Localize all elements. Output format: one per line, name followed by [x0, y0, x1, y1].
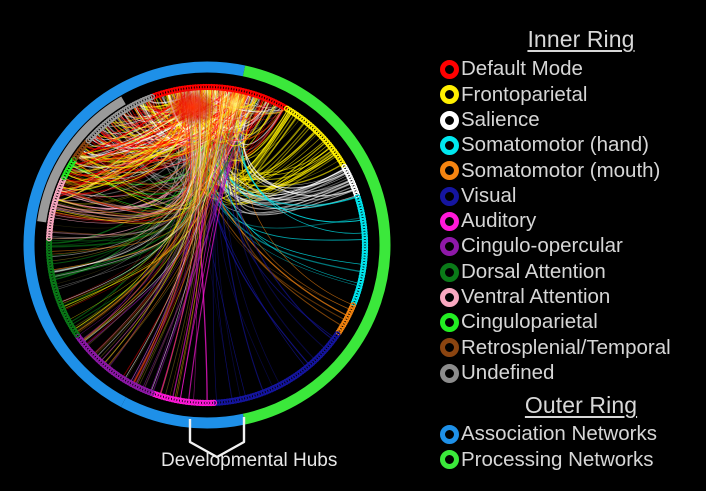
- legend-swatch-icon: [440, 237, 459, 256]
- legend-item-salience[interactable]: Salience: [436, 108, 706, 133]
- legend-swatch-icon: [440, 136, 459, 155]
- legend-swatch-icon: [440, 85, 459, 104]
- legend-item-frontoparietal[interactable]: Frontoparietal: [436, 82, 706, 107]
- legend-item-somatomotor-hand[interactable]: Somatomotor (hand): [436, 133, 706, 158]
- legend-swatch-icon: [440, 288, 459, 307]
- legend-item-label: Dorsal Attention: [461, 262, 606, 283]
- legend-outer-ring-list: Association NetworksProcessing Networks: [436, 422, 706, 473]
- legend-swatch-icon: [440, 60, 459, 79]
- legend-inner-ring-title: Inner Ring: [468, 28, 694, 51]
- connectogram: Developmental Hubs: [0, 0, 430, 491]
- legend-swatch-icon: [440, 212, 459, 231]
- legend-swatch-icon: [440, 313, 459, 332]
- legend-item-label: Retrosplenial/Temporal: [461, 338, 671, 359]
- legend-swatch-icon: [440, 161, 459, 180]
- legend-item-label: Association Networks: [461, 424, 657, 445]
- legend-item-label: Auditory: [461, 211, 536, 232]
- legend-item-label: Frontoparietal: [461, 85, 587, 106]
- legend-item-label: Processing Networks: [461, 450, 654, 471]
- legend-item-cingulo-opercular[interactable]: Cingulo-opercular: [436, 234, 706, 259]
- legend-item-visual[interactable]: Visual: [436, 183, 706, 208]
- legend-item-auditory[interactable]: Auditory: [436, 209, 706, 234]
- legend-item-retrosplenial-temporal[interactable]: Retrosplenial/Temporal: [436, 335, 706, 360]
- legend-item-ventral-attention[interactable]: Ventral Attention: [436, 285, 706, 310]
- legend-outer-ring-title: Outer Ring: [468, 394, 694, 417]
- legend-item-association-networks[interactable]: Association Networks: [436, 422, 706, 447]
- legend-item-label: Cingulo-opercular: [461, 236, 623, 257]
- legend-item-label: Cinguloparietal: [461, 312, 598, 333]
- legend-swatch-icon: [440, 338, 459, 357]
- legend-item-label: Somatomotor (hand): [461, 135, 649, 156]
- figure-root: Developmental Hubs Inner Ring Default Mo…: [0, 0, 706, 491]
- legend-item-label: Undefined: [461, 363, 554, 384]
- legend-swatch-icon: [440, 364, 459, 383]
- legend-item-processing-networks[interactable]: Processing Networks: [436, 447, 706, 472]
- connectogram-svg: [0, 0, 430, 491]
- legend-item-default-mode[interactable]: Default Mode: [436, 57, 706, 82]
- legend-item-label: Ventral Attention: [461, 287, 610, 308]
- legend-swatch-icon: [440, 111, 459, 130]
- legend-swatch-icon: [440, 263, 459, 282]
- legend-item-label: Visual: [461, 186, 516, 207]
- legend-item-somatomotor-mouth[interactable]: Somatomotor (mouth): [436, 158, 706, 183]
- legend-item-label: Default Mode: [461, 59, 583, 80]
- legend-item-label: Somatomotor (mouth): [461, 161, 660, 182]
- legend-item-label: Salience: [461, 110, 540, 131]
- legend-item-undefined[interactable]: Undefined: [436, 361, 706, 386]
- legend-inner-ring-list: Default ModeFrontoparietalSalienceSomato…: [436, 57, 706, 386]
- legend-swatch-icon: [440, 425, 459, 444]
- legend-swatch-icon: [440, 450, 459, 469]
- legend-item-dorsal-attention[interactable]: Dorsal Attention: [436, 259, 706, 284]
- legend-panel: Inner Ring Default ModeFrontoparietalSal…: [432, 0, 706, 491]
- legend-swatch-icon: [440, 187, 459, 206]
- legend-item-cinguloparietal[interactable]: Cinguloparietal: [436, 310, 706, 335]
- developmental-hubs-label: Developmental Hubs: [161, 450, 337, 472]
